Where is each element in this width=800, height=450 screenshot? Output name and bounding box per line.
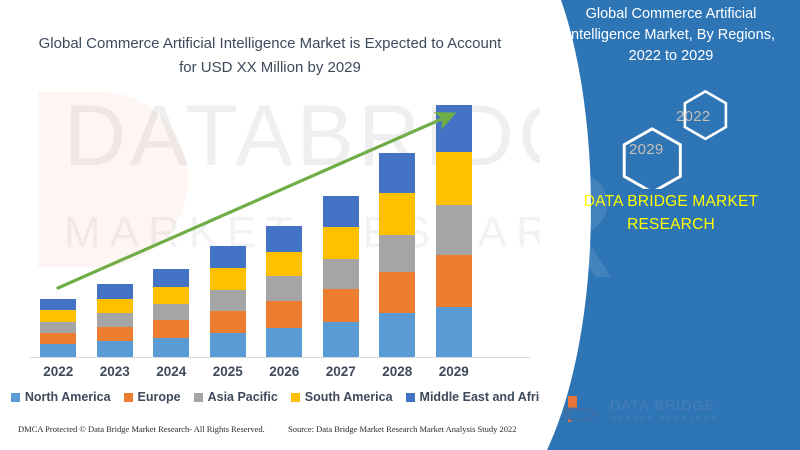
bar-2023 xyxy=(97,284,133,357)
hexagon-2029-shape xyxy=(624,129,680,189)
logo-line-1: DATA BRIDGE xyxy=(610,398,770,413)
page-title: Global Commerce Artificial Intelligence … xyxy=(30,32,510,80)
x-axis-label-2023: 2023 xyxy=(87,364,143,379)
x-axis-label-2028: 2028 xyxy=(369,364,425,379)
infographic-slide: DATABRIDGE MARKET RESEARCH Global Commer… xyxy=(0,0,800,450)
legend-label-4: Middle East and Africa xyxy=(420,390,554,404)
legend-swatch-1 xyxy=(124,393,133,402)
bar-2025 xyxy=(210,246,246,357)
hexagon-shapes xyxy=(600,84,750,189)
bar-segment-2022-2 xyxy=(40,322,76,333)
bar-segment-2024-1 xyxy=(153,320,189,338)
legend-item-1[interactable]: Europe xyxy=(124,390,181,404)
bar-segment-2026-1 xyxy=(266,301,302,328)
bar-2027 xyxy=(323,196,359,357)
dmca-notice: DMCA Protected © Data Bridge Market Rese… xyxy=(18,424,265,434)
bar-segment-2025-0 xyxy=(210,333,246,357)
bar-segment-2023-4 xyxy=(97,284,133,299)
chart-legend: North AmericaEuropeAsia PacificSouth Ame… xyxy=(22,386,542,408)
bar-segment-2028-1 xyxy=(379,272,415,313)
bar-segment-2024-0 xyxy=(153,338,189,357)
bar-segment-2024-2 xyxy=(153,304,189,321)
bar-segment-2027-1 xyxy=(323,289,359,321)
bar-2022 xyxy=(40,299,76,357)
x-axis-label-2025: 2025 xyxy=(200,364,256,379)
logo-wordmark: DATA BRIDGE MARKET RESEARCH xyxy=(610,398,770,424)
bar-segment-2026-4 xyxy=(266,226,302,252)
bar-segment-2027-4 xyxy=(323,196,359,226)
x-axis-label-2022: 2022 xyxy=(30,364,86,379)
x-axis-label-2026: 2026 xyxy=(256,364,312,379)
hexagon-label-2022: 2022 xyxy=(676,108,711,125)
x-axis-label-2027: 2027 xyxy=(313,364,369,379)
bar-segment-2025-1 xyxy=(210,311,246,333)
x-axis-label-2024: 2024 xyxy=(143,364,199,379)
bar-2026 xyxy=(266,226,302,358)
bar-segment-2026-0 xyxy=(266,328,302,357)
footer: DMCA Protected © Data Bridge Market Rese… xyxy=(0,424,560,444)
bar-segment-2023-3 xyxy=(97,299,133,314)
data-bridge-logo-icon xyxy=(560,392,606,432)
plot-area xyxy=(0,96,540,358)
chart-panel: DATABRIDGE MARKET RESEARCH Global Commer… xyxy=(0,0,560,450)
legend-swatch-2 xyxy=(194,393,203,402)
legend-item-3[interactable]: South America xyxy=(291,390,393,404)
bar-segment-2022-1 xyxy=(40,333,76,344)
branding-panel: R Global Commerce Artificial Intelligenc… xyxy=(540,0,800,450)
legend-label-0: North America xyxy=(25,390,111,404)
bar-group xyxy=(0,96,540,357)
bar-segment-2027-2 xyxy=(323,259,359,289)
legend-item-0[interactable]: North America xyxy=(11,390,111,404)
bar-segment-2026-3 xyxy=(266,252,302,276)
bar-segment-2029-0 xyxy=(436,307,472,357)
bar-segment-2022-4 xyxy=(40,299,76,310)
bar-segment-2023-0 xyxy=(97,341,133,357)
legend-label-3: South America xyxy=(305,390,393,404)
legend-swatch-4 xyxy=(406,393,415,402)
bar-2029 xyxy=(436,105,472,357)
bar-segment-2023-1 xyxy=(97,327,133,342)
bar-segment-2023-2 xyxy=(97,313,133,327)
bar-segment-2024-3 xyxy=(153,287,189,304)
bar-segment-2027-0 xyxy=(323,322,359,357)
legend-swatch-3 xyxy=(291,393,300,402)
legend-swatch-0 xyxy=(11,393,20,402)
bar-segment-2029-1 xyxy=(436,255,472,307)
bar-segment-2025-3 xyxy=(210,268,246,290)
legend-item-4[interactable]: Middle East and Africa xyxy=(406,390,554,404)
bar-segment-2025-2 xyxy=(210,290,246,311)
bar-segment-2029-4 xyxy=(436,105,472,152)
bar-segment-2026-2 xyxy=(266,276,302,301)
hexagon-label-2029: 2029 xyxy=(629,141,664,158)
bar-segment-2027-3 xyxy=(323,227,359,259)
x-axis-line xyxy=(30,357,530,358)
panel-title: Global Commerce Artificial Intelligence … xyxy=(554,4,788,67)
bar-segment-2028-0 xyxy=(379,313,415,357)
brand-name: DATA BRIDGE MARKET RESEARCH xyxy=(554,190,788,237)
bar-segment-2028-2 xyxy=(379,235,415,273)
bar-2024 xyxy=(153,269,189,357)
bar-segment-2024-4 xyxy=(153,269,189,287)
bar-segment-2028-3 xyxy=(379,193,415,235)
x-axis-labels: 20222023202420252026202720282029 xyxy=(0,364,540,384)
bar-2028 xyxy=(379,153,415,357)
x-axis-label-2029: 2029 xyxy=(426,364,482,379)
bar-segment-2022-0 xyxy=(40,344,76,357)
bar-segment-2029-2 xyxy=(436,205,472,255)
hexagon-group: 2029 2022 xyxy=(600,84,750,189)
legend-item-2[interactable]: Asia Pacific xyxy=(194,390,278,404)
bar-segment-2025-4 xyxy=(210,246,246,268)
bar-segment-2022-3 xyxy=(40,310,76,321)
logo-line-2: MARKET RESEARCH xyxy=(610,416,770,424)
bar-segment-2028-4 xyxy=(379,153,415,193)
source-note: Source: Data Bridge Market Research Mark… xyxy=(288,424,517,434)
legend-label-2: Asia Pacific xyxy=(208,390,278,404)
bar-segment-2029-3 xyxy=(436,152,472,204)
legend-label-1: Europe xyxy=(138,390,181,404)
